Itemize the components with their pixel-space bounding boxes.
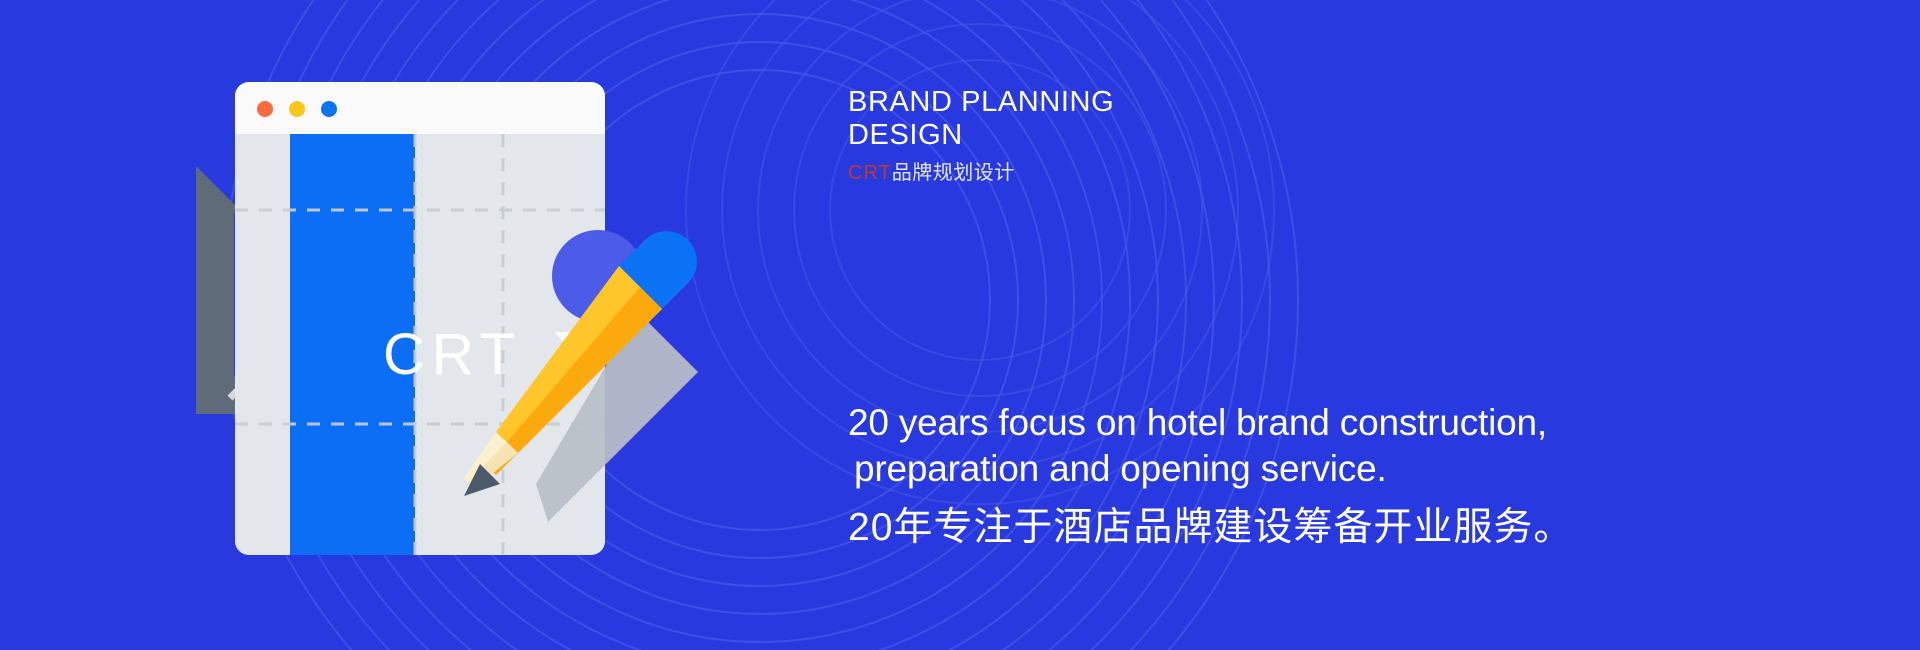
close-dot-icon [257, 101, 273, 117]
brand-design-illustration: CRT [180, 60, 800, 580]
minimize-dot-icon [289, 101, 305, 117]
subtitle-crt-prefix: CRT [848, 162, 892, 184]
headline-line-2: DESIGN [848, 119, 1368, 152]
tagline-english: 20 years focus on hotel brand constructi… [848, 400, 1668, 492]
brand-planning-banner: CRT BRAND PLANNING [0, 0, 1920, 650]
tagline-english-line-2: preparation and opening service. [848, 446, 1668, 492]
tagline-chinese: 20年专注于酒店品牌建设筹备开业服务。 [848, 504, 1668, 552]
maximize-dot-icon [321, 101, 337, 117]
subtitle-chinese-text: 品牌规划设计 [892, 162, 1015, 184]
pencil-icon [440, 220, 770, 550]
tagline-english-line-1: 20 years focus on hotel brand constructi… [848, 402, 1547, 443]
headline-line-1: BRAND PLANNING [848, 86, 1368, 119]
headline-block: BRAND PLANNING DESIGN CRT品牌规划设计 [848, 86, 1368, 185]
tagline-block: 20 years focus on hotel brand constructi… [848, 400, 1668, 552]
headline-subtitle: CRT品牌规划设计 [848, 161, 1368, 185]
window-titlebar [235, 82, 605, 134]
